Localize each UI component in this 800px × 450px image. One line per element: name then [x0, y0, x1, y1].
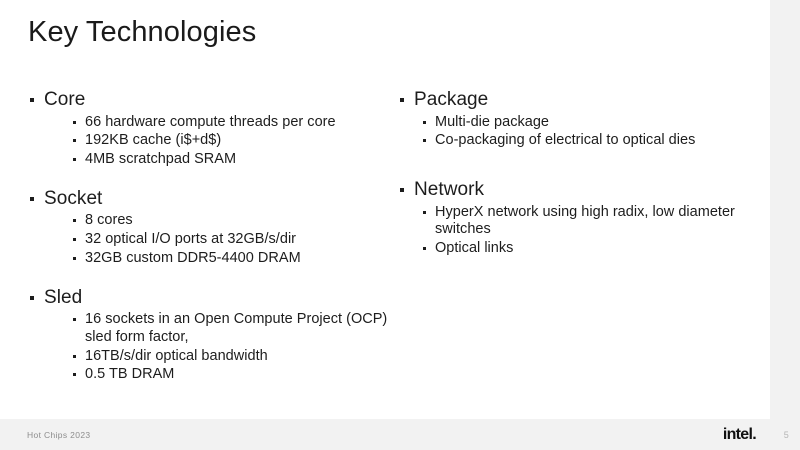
list-item-label: Co-packaging of electrical to optical di… — [435, 132, 695, 148]
footer-band — [0, 419, 770, 450]
list-item: 32GB custom DDR5-4400 DRAM — [72, 250, 388, 268]
content-column-left: Core 66 hardware compute threads per cor… — [28, 88, 388, 384]
square-bullet-icon — [73, 373, 76, 376]
list-item: 0.5 TB DRAM — [72, 366, 388, 384]
bullet-heading-label: Sled — [44, 287, 82, 308]
list-item: 16 sockets in an Open Compute Project (O… — [72, 311, 388, 346]
bullet-heading-network: Network — [398, 178, 743, 203]
square-bullet-icon — [400, 98, 404, 102]
square-bullet-icon — [423, 139, 426, 142]
bullet-group-network: Network HyperX network using high radix,… — [398, 178, 743, 258]
square-bullet-icon — [73, 158, 76, 161]
list-item-label: 32GB custom DDR5-4400 DRAM — [85, 250, 301, 266]
square-bullet-icon — [30, 296, 34, 300]
slide-content: Core 66 hardware compute threads per cor… — [0, 88, 770, 408]
square-bullet-icon — [73, 238, 76, 241]
bullet-heading-label: Package — [414, 89, 488, 110]
sub-bullet-list-network: HyperX network using high radix, low dia… — [398, 204, 743, 258]
list-item-label: 16TB/s/dir optical bandwidth — [85, 348, 268, 364]
list-item: 192KB cache (i$+d$) — [72, 132, 388, 150]
list-item-label: 66 hardware compute threads per core — [85, 114, 336, 130]
bullet-group-sled: Sled 16 sockets in an Open Compute Proje… — [28, 286, 388, 384]
bullet-group-socket: Socket 8 cores 32 optical I/O ports at 3… — [28, 187, 388, 268]
content-column-right: Package Multi-die package Co-packaging o… — [398, 88, 743, 258]
list-item-label: Optical links — [435, 240, 513, 256]
square-bullet-icon — [423, 247, 426, 250]
square-bullet-icon — [73, 219, 76, 222]
list-item-label: 0.5 TB DRAM — [85, 366, 174, 382]
page-title: Key Technologies — [28, 16, 256, 49]
list-item: HyperX network using high radix, low dia… — [422, 204, 743, 239]
square-bullet-icon — [30, 197, 34, 201]
square-bullet-icon — [73, 121, 76, 124]
right-edge-strip — [770, 0, 800, 450]
bullet-heading-sled: Sled — [28, 286, 388, 311]
bullet-heading-core: Core — [28, 88, 388, 113]
square-bullet-icon — [73, 257, 76, 260]
list-item-label: 16 sockets in an Open Compute Project (O… — [85, 311, 387, 345]
square-bullet-icon — [400, 188, 404, 192]
list-item-label: 192KB cache (i$+d$) — [85, 132, 221, 148]
sub-bullet-list-core: 66 hardware compute threads per core 192… — [28, 114, 388, 169]
bullet-group-package: Package Multi-die package Co-packaging o… — [398, 88, 743, 150]
bullet-heading-label: Socket — [44, 188, 102, 209]
sub-bullet-list-package: Multi-die package Co-packaging of electr… — [398, 114, 743, 150]
square-bullet-icon — [73, 139, 76, 142]
footer-event-label: Hot Chips 2023 — [27, 430, 91, 440]
list-item: 16TB/s/dir optical bandwidth — [72, 348, 388, 366]
bullet-heading-label: Network — [414, 179, 484, 200]
bullet-heading-label: Core — [44, 89, 85, 110]
list-item: Multi-die package — [422, 114, 743, 132]
list-item: 66 hardware compute threads per core — [72, 114, 388, 132]
square-bullet-icon — [73, 318, 76, 321]
list-item: 4MB scratchpad SRAM — [72, 151, 388, 169]
list-item-label: 8 cores — [85, 212, 133, 228]
sub-bullet-list-sled: 16 sockets in an Open Compute Project (O… — [28, 311, 388, 384]
square-bullet-icon — [423, 211, 426, 214]
square-bullet-icon — [423, 121, 426, 124]
list-item: 8 cores — [72, 212, 388, 230]
bullet-heading-socket: Socket — [28, 187, 388, 212]
bullet-group-core: Core 66 hardware compute threads per cor… — [28, 88, 388, 169]
intel-logo: intel. — [723, 427, 756, 443]
list-item: Co-packaging of electrical to optical di… — [422, 132, 743, 150]
list-item-label: Multi-die package — [435, 114, 549, 130]
list-item: 32 optical I/O ports at 32GB/s/dir — [72, 231, 388, 249]
sub-bullet-list-socket: 8 cores 32 optical I/O ports at 32GB/s/d… — [28, 212, 388, 267]
square-bullet-icon — [30, 98, 34, 102]
list-item-label: 4MB scratchpad SRAM — [85, 151, 236, 167]
list-item-label: HyperX network using high radix, low dia… — [435, 204, 735, 238]
list-item-label: 32 optical I/O ports at 32GB/s/dir — [85, 231, 296, 247]
bullet-heading-package: Package — [398, 88, 743, 113]
list-item: Optical links — [422, 240, 743, 258]
slide-canvas: Key Technologies Core 66 hardware comput… — [0, 0, 800, 450]
square-bullet-icon — [73, 355, 76, 358]
page-number: 5 — [784, 430, 789, 440]
